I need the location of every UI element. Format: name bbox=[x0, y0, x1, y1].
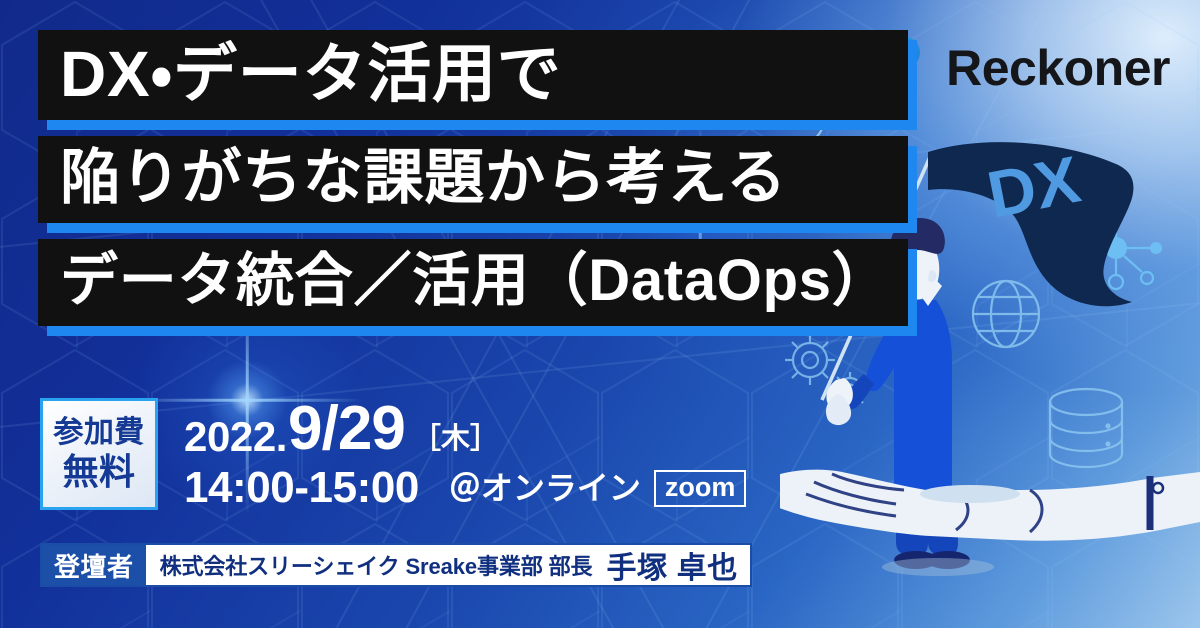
event-info: 参加費 無料 2022. 9/29 ［木］ 14:00-15:00 ＠オンライン… bbox=[40, 398, 746, 510]
event-day-of-week: ［木］ bbox=[412, 425, 499, 460]
globe-icon bbox=[973, 281, 1039, 347]
database-icon bbox=[1050, 389, 1122, 467]
speaker-name: 手塚 卓也 bbox=[606, 543, 737, 587]
fee-label: 参加費 bbox=[54, 417, 145, 449]
title-block: DX・データ活用で 陥りがちな課題から考える データ統合／活用（DataOps） bbox=[38, 30, 908, 342]
gears-icon bbox=[785, 335, 868, 408]
time-line: 14:00-15:00 ＠オンライン zoom bbox=[184, 466, 746, 510]
title-row-1: DX・データ活用で bbox=[38, 30, 908, 120]
schedule-block: 2022. 9/29 ［木］ 14:00-15:00 ＠オンライン zoom bbox=[184, 398, 746, 510]
title-line-2: 陥りがちな課題から考える bbox=[38, 136, 908, 223]
title-line-3: データ統合／活用（DataOps） bbox=[38, 239, 908, 326]
title-row-2: 陥りがちな課題から考える bbox=[38, 136, 908, 223]
fee-badge: 参加費 無料 bbox=[40, 398, 158, 510]
title-row-3: データ統合／活用（DataOps） bbox=[38, 239, 908, 326]
event-time: 14:00-15:00 bbox=[184, 466, 419, 510]
speaker-details: 株式会社スリーシェイク Sreake事業部 部長 手塚 卓也 bbox=[146, 545, 750, 585]
zoom-platform-chip: zoom bbox=[654, 470, 747, 507]
speaker-badge: 登壇者 bbox=[42, 545, 146, 585]
flag-label: DX bbox=[982, 142, 1086, 232]
brand-name: Reckoner bbox=[946, 39, 1170, 97]
fee-value: 無料 bbox=[63, 453, 136, 491]
date-line: 2022. 9/29 ［木］ bbox=[184, 398, 746, 460]
speaker-organization: 株式会社スリーシェイク Sreake事業部 部長 bbox=[160, 549, 593, 581]
webinar-banner: DX bbox=[0, 0, 1200, 628]
dx-flag bbox=[928, 142, 1133, 306]
event-month-day: 9/29 bbox=[288, 398, 405, 460]
event-location: ＠オンライン bbox=[449, 472, 641, 504]
robot-hand bbox=[780, 470, 1200, 541]
event-year: 2022. bbox=[184, 416, 287, 460]
speaker-bar: 登壇者 株式会社スリーシェイク Sreake事業部 部長 手塚 卓也 bbox=[40, 543, 752, 587]
network-node-icon bbox=[1069, 201, 1162, 289]
title-line-1: DX・データ活用で bbox=[38, 30, 908, 120]
